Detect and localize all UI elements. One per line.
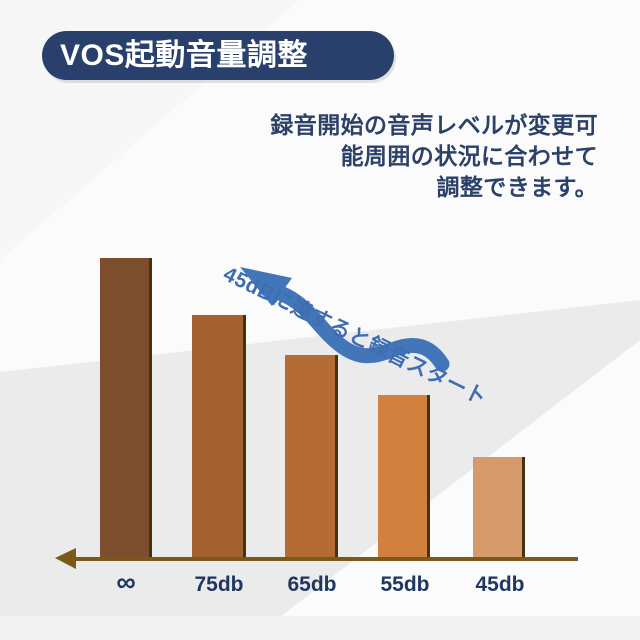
- infographic-canvas: VOS起動音量調整 録音開始の音声レベルが変更可 能周囲の状況に合わせて 調整で…: [0, 0, 640, 640]
